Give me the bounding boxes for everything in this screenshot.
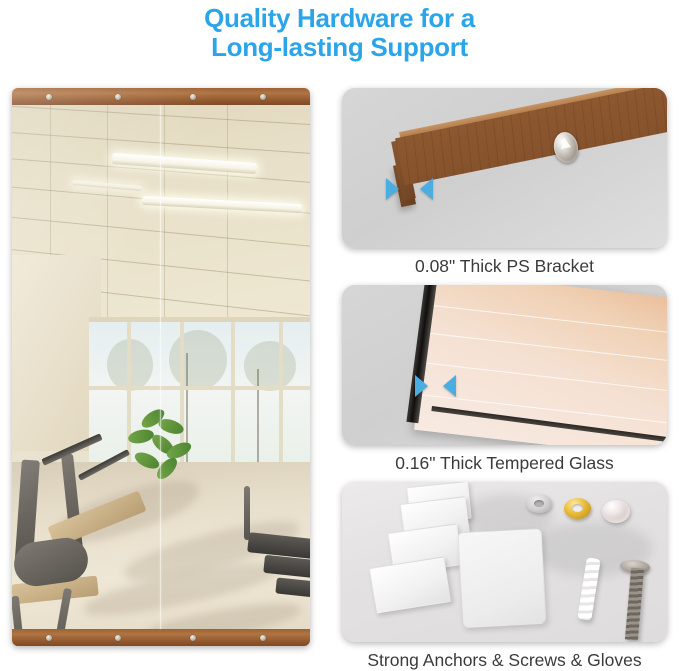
mirror-cap-cover [602, 500, 630, 523]
frame-screw [190, 635, 196, 641]
feature-caption-hardware-parts: Strong Anchors & Screws & Gloves [342, 649, 667, 671]
potted-plant [120, 410, 192, 482]
thickness-arrow-right-icon [415, 375, 428, 397]
thickness-arrow-left-icon [443, 375, 456, 397]
protective-sheet [458, 528, 547, 628]
mirror-frame-top [12, 88, 310, 105]
page-title-line-1: Quality Hardware for a [0, 4, 679, 33]
frame-screw [115, 635, 121, 641]
washer-brass [564, 498, 591, 519]
frame-screw [260, 635, 266, 641]
frame-screw [46, 635, 52, 641]
thickness-arrow-right-icon [386, 178, 399, 200]
page-title-line-2: Long-lasting Support [0, 33, 679, 62]
side-wall [12, 255, 101, 450]
ceiling-lamp [112, 153, 257, 174]
bolt-notch-icon [559, 136, 571, 149]
page-title: Quality Hardware for a Long-lasting Supp… [0, 4, 679, 62]
mirror-panel-seam [160, 105, 161, 629]
treadmill-rail [244, 486, 250, 540]
infographic-page: Quality Hardware for a Long-lasting Supp… [0, 0, 679, 671]
frame-screw [190, 94, 196, 100]
feature-image-hardware-parts [342, 482, 667, 642]
frame-screw [260, 94, 266, 100]
feature-caption-tempered-glass: 0.16" Thick Tempered Glass [342, 452, 667, 474]
feature-image-tempered-glass [342, 285, 667, 445]
hero-mirror-photo [12, 88, 310, 646]
ceiling-lamp [142, 196, 302, 213]
gym-reflection-scene [12, 88, 310, 646]
feature-caption-ps-bracket: 0.08" Thick PS Bracket [342, 255, 667, 277]
feature-image-ps-bracket [342, 88, 667, 248]
mirror-frame-bottom [12, 629, 310, 646]
bracket-wood-face [395, 88, 667, 186]
frame-screw [46, 94, 52, 100]
washer-steel [526, 494, 552, 513]
thickness-arrow-left-icon [420, 178, 433, 200]
frame-screw [115, 94, 121, 100]
